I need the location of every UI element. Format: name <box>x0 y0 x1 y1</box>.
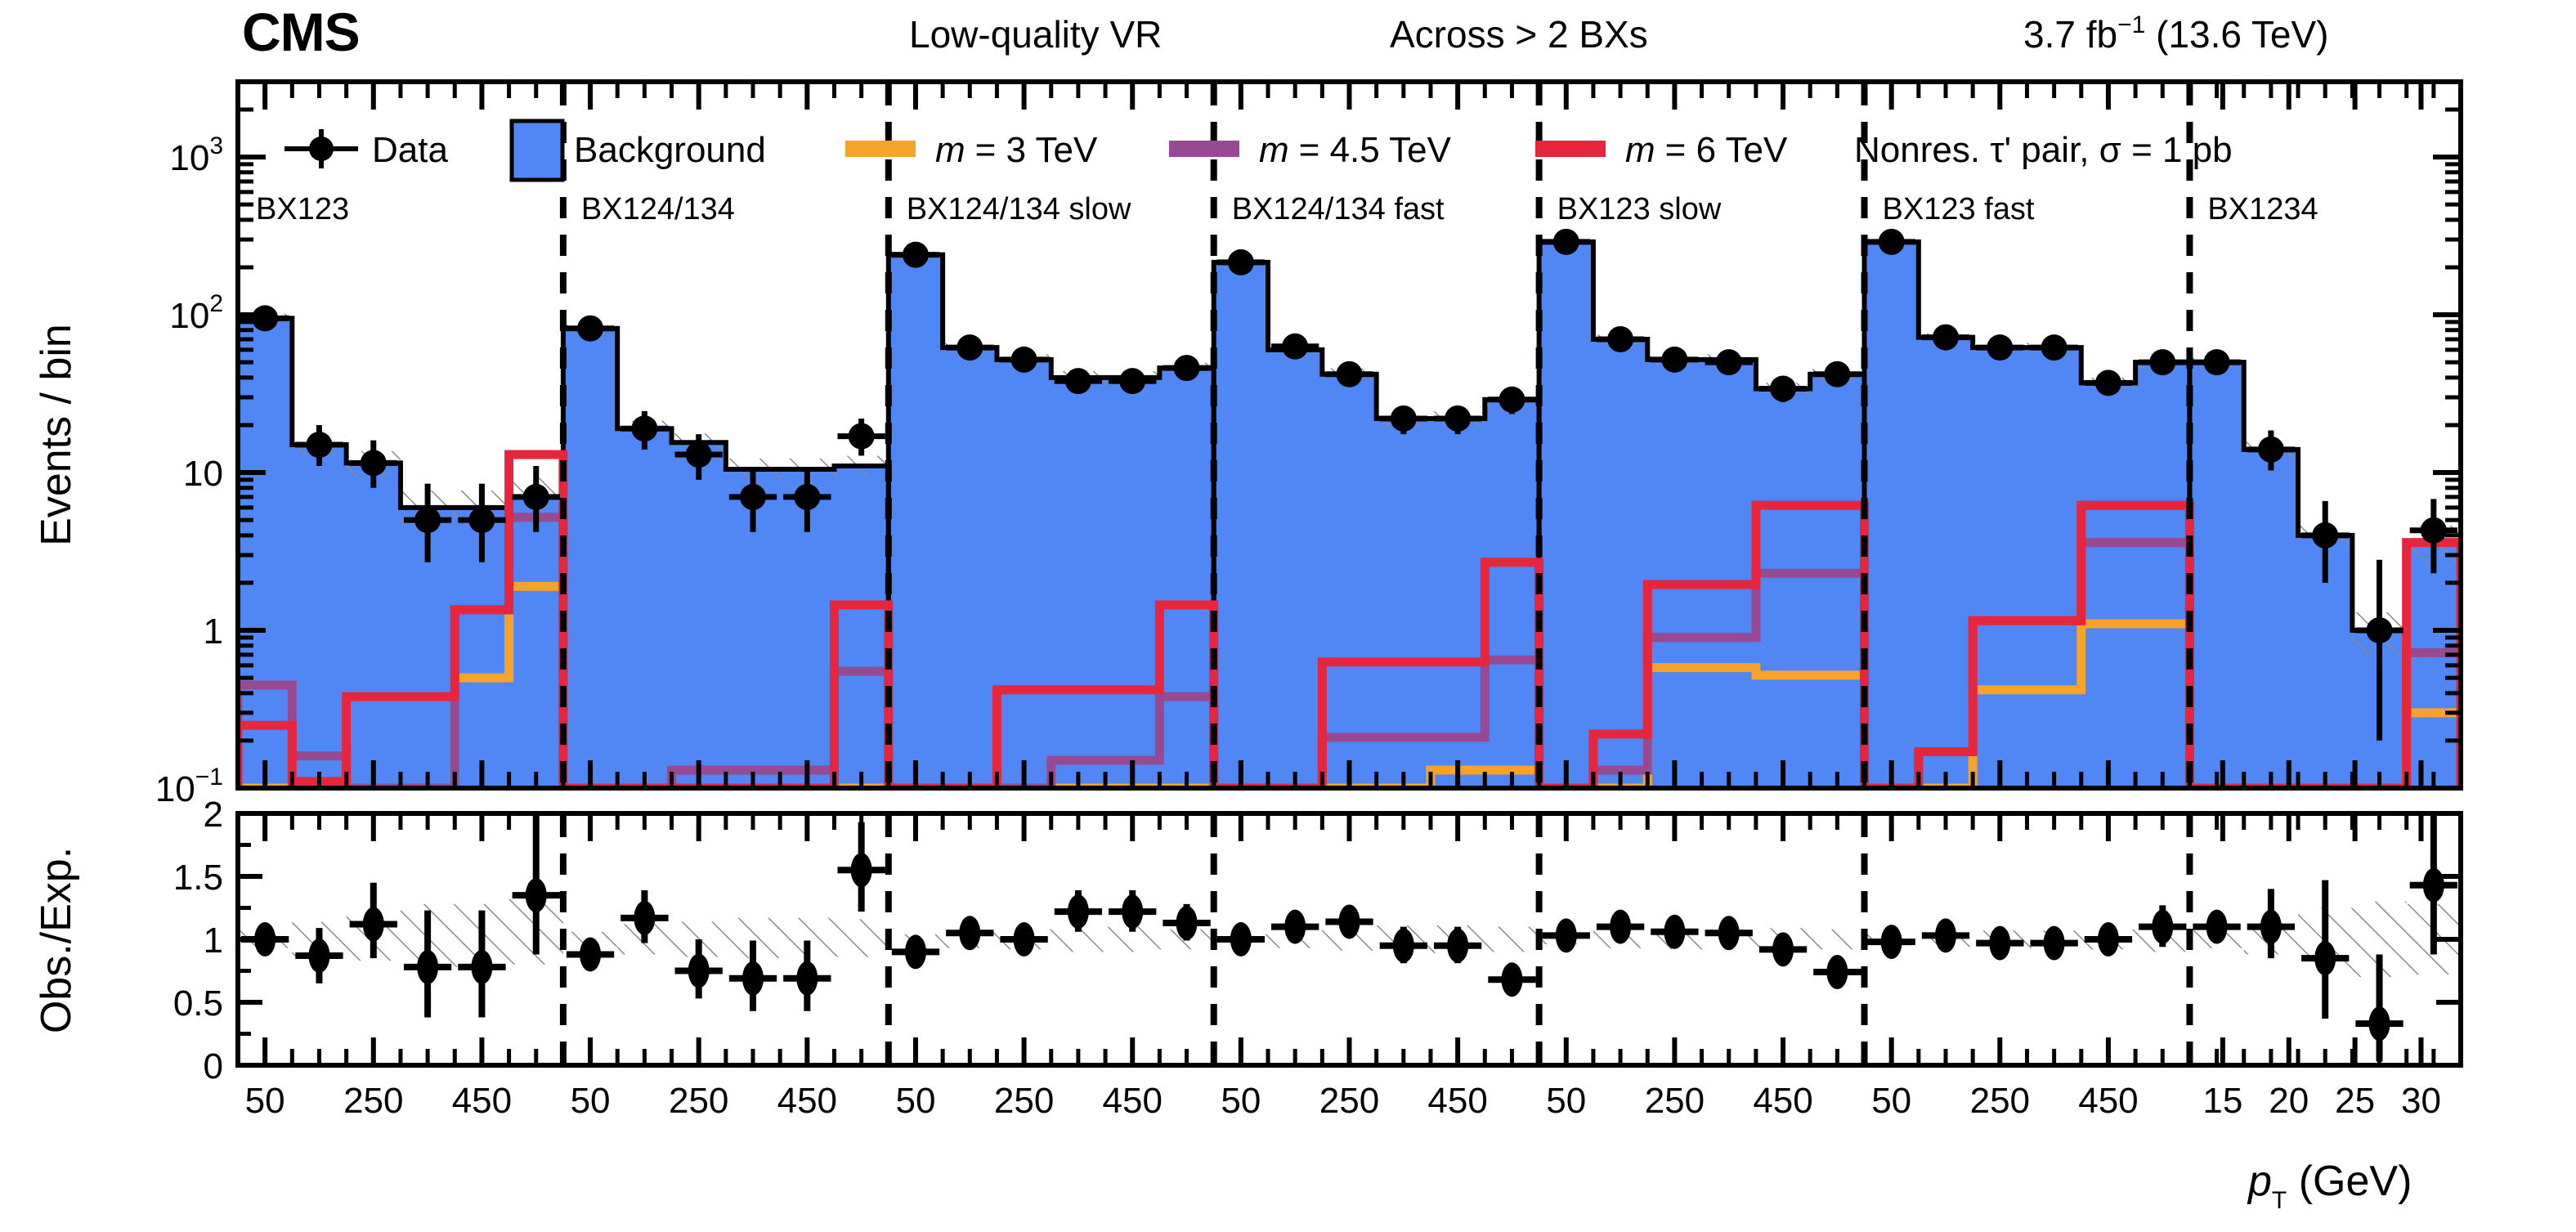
region-header-label: Low-quality VR <box>909 13 1162 56</box>
ratio-point-marker <box>526 878 547 912</box>
region-label-6: BX1234 <box>2207 192 2318 226</box>
ratio-point-marker <box>742 961 764 996</box>
data-point-marker <box>523 484 549 510</box>
lumi-value: 3.7 fb <box>2023 13 2117 56</box>
ratio-point-marker <box>959 916 980 950</box>
data-point-marker <box>1174 355 1200 381</box>
main-y-axis-title: Events / bin <box>33 324 80 546</box>
ratio-point-marker <box>1014 922 1035 956</box>
x-axis-tick-label: 450 <box>777 1081 837 1121</box>
data-point-marker <box>1011 347 1037 373</box>
data-point-marker <box>1499 387 1525 413</box>
data-point-marker <box>1337 361 1363 388</box>
main-ytick-label: 10 <box>183 454 223 494</box>
legend-label-data: Data <box>372 130 448 170</box>
ratio-point-marker <box>688 954 710 988</box>
x-axis-tick-label: 15 <box>2202 1081 2242 1121</box>
data-point-marker <box>2367 617 2393 643</box>
ratio-point-marker <box>2314 941 2336 975</box>
background-swatch-icon <box>512 121 562 180</box>
ratio-uncertainty-band <box>1485 927 1539 952</box>
data-point-marker <box>361 450 387 476</box>
ratio-point-marker <box>2044 926 2065 961</box>
x-axis-tick-label: 250 <box>1645 1081 1705 1121</box>
ratio-ytick-label: 1 <box>204 921 223 961</box>
data-point-marker <box>2041 334 2068 361</box>
data-point-marker <box>2204 349 2230 375</box>
ratio-point-marker <box>2423 868 2444 903</box>
legend-label-background: Background <box>574 130 766 170</box>
data-point-marker <box>1879 229 1905 255</box>
ratio-y-axis-title: Obs./Exp. <box>33 847 80 1033</box>
ratio-point-marker <box>796 961 818 996</box>
data-point-marker <box>2421 517 2447 544</box>
ratio-uncertainty-band <box>1810 930 1864 950</box>
legend-m-symbol-1: m <box>935 130 965 170</box>
ratio-ytick-label: 2 <box>204 795 223 835</box>
data-point-marker <box>252 305 278 331</box>
ratio-point-marker <box>1881 925 1902 959</box>
ratio-point-marker <box>1501 962 1522 997</box>
region-label-3: BX124/134 fast <box>1232 192 1445 226</box>
ratio-point-marker <box>1610 910 1631 944</box>
x-axis-tick-label: 450 <box>2078 1081 2138 1121</box>
signal-4p5tev-swatch-icon <box>1169 141 1239 157</box>
x-axis-tick-label: 450 <box>1103 1081 1163 1121</box>
data-point-marker <box>1770 375 1796 401</box>
x-axis-tick-label: 50 <box>571 1081 611 1121</box>
signal-normalization-note: Nonres. τ' pair, σ = 1 pb <box>1854 130 2233 170</box>
ratio-point-marker <box>1447 929 1468 963</box>
ratio-point-marker <box>1393 929 1414 963</box>
data-point-marker <box>956 334 983 361</box>
data-point-marker <box>849 423 875 450</box>
ratio-point-marker <box>1176 906 1198 940</box>
legend-m-symbol-3: m <box>1625 130 1655 170</box>
data-point-marker <box>577 316 603 342</box>
x-axis-tick-label: 250 <box>1970 1081 2030 1121</box>
region-label-5: BX123 fast <box>1883 192 2035 226</box>
ratio-ytick-label: 1.5 <box>173 858 223 898</box>
data-point-marker <box>1661 347 1687 373</box>
x-axis-tick-label: 50 <box>1546 1081 1586 1121</box>
data-point-marker <box>903 242 929 268</box>
x-axis-tick-label: 50 <box>1221 1081 1261 1121</box>
region-label-4: BX123 slow <box>1557 192 1722 226</box>
legend-label-sig2: = 4.5 TeV <box>1299 130 1452 170</box>
ratio-point-marker <box>2152 910 2173 944</box>
ratio-point-marker <box>905 934 926 969</box>
signal-6tev-swatch-icon <box>1535 141 1606 157</box>
luminosity-label: 3.7 fb−1 (13.6 TeV) <box>2023 11 2328 56</box>
ratio-point-marker <box>308 939 329 973</box>
ratio-point-marker <box>1230 922 1252 956</box>
x-axis-tick-label: 450 <box>1427 1081 1487 1121</box>
cms-logo: CMS <box>242 2 360 62</box>
x-axis-tick-label: 450 <box>452 1081 512 1121</box>
x-axis-tick-label: 250 <box>994 1081 1054 1121</box>
data-point-marker <box>468 507 495 533</box>
data-point-marker <box>2095 370 2121 396</box>
data-point-marker <box>1119 368 1145 394</box>
data-point-marker <box>1553 229 1579 255</box>
ratio-point-marker <box>580 937 601 971</box>
x-axis-tick-label: 50 <box>245 1081 285 1121</box>
data-point-marker <box>2149 349 2175 375</box>
lumi-energy: (13.6 TeV) <box>2145 13 2328 56</box>
data-point-marker <box>2258 437 2284 463</box>
x-axis-title-unit: (GeV) <box>2287 1158 2412 1205</box>
data-point-marker <box>1391 405 1417 432</box>
x-axis-tick-label: 250 <box>1319 1081 1379 1121</box>
data-point-marker <box>1445 405 1471 432</box>
x-axis-tick-label: 20 <box>2269 1081 2309 1121</box>
ratio-point-marker <box>1068 894 1089 929</box>
data-point-marker <box>631 415 657 441</box>
ratio-point-marker <box>2206 910 2228 944</box>
data-point-marker <box>414 507 441 533</box>
region-label-2: BX124/134 slow <box>907 192 1131 226</box>
ratio-x-axis-labels: 5025045050250450502504505025045050250450… <box>245 1081 2441 1121</box>
x-axis-tick-label: 250 <box>343 1081 403 1121</box>
ratio-point-marker <box>471 950 492 984</box>
data-point-marker <box>1987 334 2013 361</box>
svg-text:m= 3 TeV: m= 3 TeV <box>935 130 1098 170</box>
data-point-marker <box>740 484 766 510</box>
legend-label-sig1: = 3 TeV <box>975 130 1098 170</box>
ratio-point-marker <box>1935 918 1956 952</box>
data-point-marker <box>1716 349 1742 375</box>
data-marker-icon <box>309 137 334 161</box>
x-axis-tick-label: 50 <box>895 1081 935 1121</box>
data-point-marker <box>1607 326 1633 352</box>
ratio-point-marker <box>1718 916 1740 950</box>
ratio-point-marker <box>417 950 438 984</box>
data-point-marker <box>1282 334 1308 360</box>
legend-label-sig3: = 6 TeV <box>1665 130 1788 170</box>
ratio-ytick-label: 0.5 <box>173 983 223 1024</box>
signal-3tev-swatch-icon <box>845 141 916 157</box>
ratio-point-marker <box>1664 915 1685 949</box>
svg-text:m= 4.5 TeV: m= 4.5 TeV <box>1259 130 1452 170</box>
data-point-marker <box>1933 325 1959 351</box>
lumi-exponent: −1 <box>2117 11 2145 38</box>
data-point-marker <box>1065 368 1091 394</box>
ratio-point-marker <box>1122 894 1143 929</box>
x-axis-tick-label: 250 <box>669 1081 728 1121</box>
ratio-point-marker <box>2260 910 2282 944</box>
ratio-point-marker <box>2369 1006 2390 1041</box>
region-label-0: BX123 <box>256 192 349 226</box>
x-axis-tick-label: 50 <box>1871 1081 1911 1121</box>
svg-text:3.7 fb−1 (13.6 TeV): 3.7 fb−1 (13.6 TeV) <box>2023 11 2328 56</box>
x-axis-title-p: p <box>2247 1158 2272 1205</box>
ratio-point-marker <box>2098 922 2119 956</box>
data-point-marker <box>1824 361 1850 388</box>
ratio-point-marker <box>363 907 384 942</box>
figure-svg: CMS Low-quality VR Across > 2 BXs 3.7 fb… <box>0 0 2576 1232</box>
selection-header-label: Across > 2 BXs <box>1390 13 1648 56</box>
ratio-uncertainty-band <box>834 919 888 956</box>
ratio-point-marker <box>1989 926 2010 961</box>
x-axis-tick-label: 30 <box>2401 1081 2441 1121</box>
region-label-1: BX124/134 <box>581 192 735 226</box>
ratio-point-marker <box>634 901 655 935</box>
x-axis-tick-label: 25 <box>2335 1081 2375 1121</box>
ratio-point-marker <box>1284 910 1306 944</box>
main-ytick-label: 1 <box>204 612 223 652</box>
ratio-ytick-label: 0 <box>204 1046 223 1086</box>
x-axis-title-sub: T <box>2272 1187 2287 1214</box>
data-point-marker <box>686 441 712 468</box>
ratio-point-marker <box>1826 955 1848 989</box>
ratio-point-marker <box>1772 932 1794 966</box>
ratio-point-marker <box>1556 918 1577 952</box>
svg-text:m= 6 TeV: m= 6 TeV <box>1625 130 1788 170</box>
data-point-marker <box>794 484 820 510</box>
data-point-marker <box>1228 249 1254 276</box>
x-axis-tick-label: 450 <box>1753 1081 1812 1121</box>
data-point-marker <box>2312 522 2338 549</box>
legend-m-symbol-2: m <box>1259 130 1289 170</box>
ratio-point-marker <box>851 853 872 887</box>
ratio-point-marker <box>1339 904 1360 939</box>
data-point-marker <box>306 432 332 458</box>
cms-figure: CMS Low-quality VR Across > 2 BXs 3.7 fb… <box>0 0 2576 1232</box>
